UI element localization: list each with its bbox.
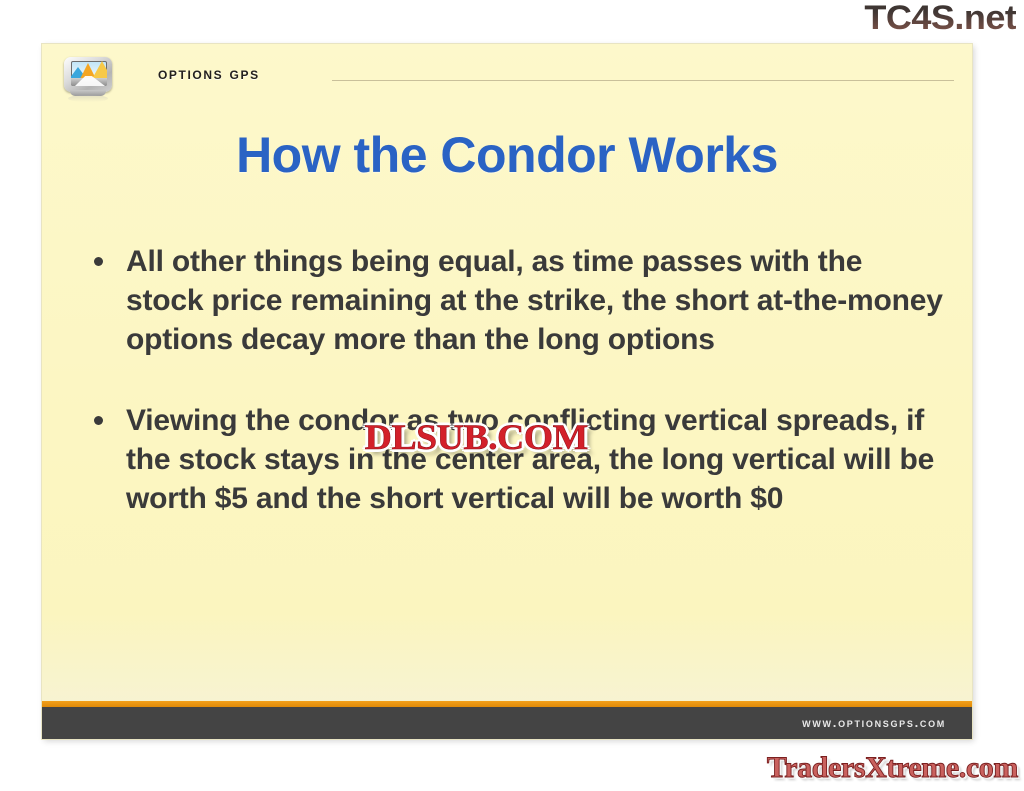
presentation-slide: Options GPS How the Condor Works All oth… [42,44,972,739]
header-divider [332,80,954,81]
bullet-dot-icon [94,416,103,425]
gps-device-screen [71,61,107,86]
footer-url-text: www.OptionsGPS.com [802,715,946,730]
slide-header: Options GPS [42,44,972,100]
slide-footer: www.OptionsGPS.com [42,707,972,739]
tradersxtreme-partner-watermark: TradersXtreme.com [767,751,1018,785]
bullet-list: All other things being equal, as time pa… [84,242,944,560]
brand-name: Options GPS [158,64,260,84]
gps-device-icon [62,56,114,96]
page-title: How the Condor Works [42,126,972,184]
dlsub-overlay-watermark: DLSUB.COM [365,416,588,458]
chart-peak-yellow [92,61,107,79]
list-item: All other things being equal, as time pa… [84,242,944,359]
tc4s-site-watermark: TC4S.net [864,0,1016,38]
bullet-dot-icon [94,257,103,266]
list-item-text: All other things being equal, as time pa… [126,245,943,356]
gps-device-reflection [68,95,108,102]
